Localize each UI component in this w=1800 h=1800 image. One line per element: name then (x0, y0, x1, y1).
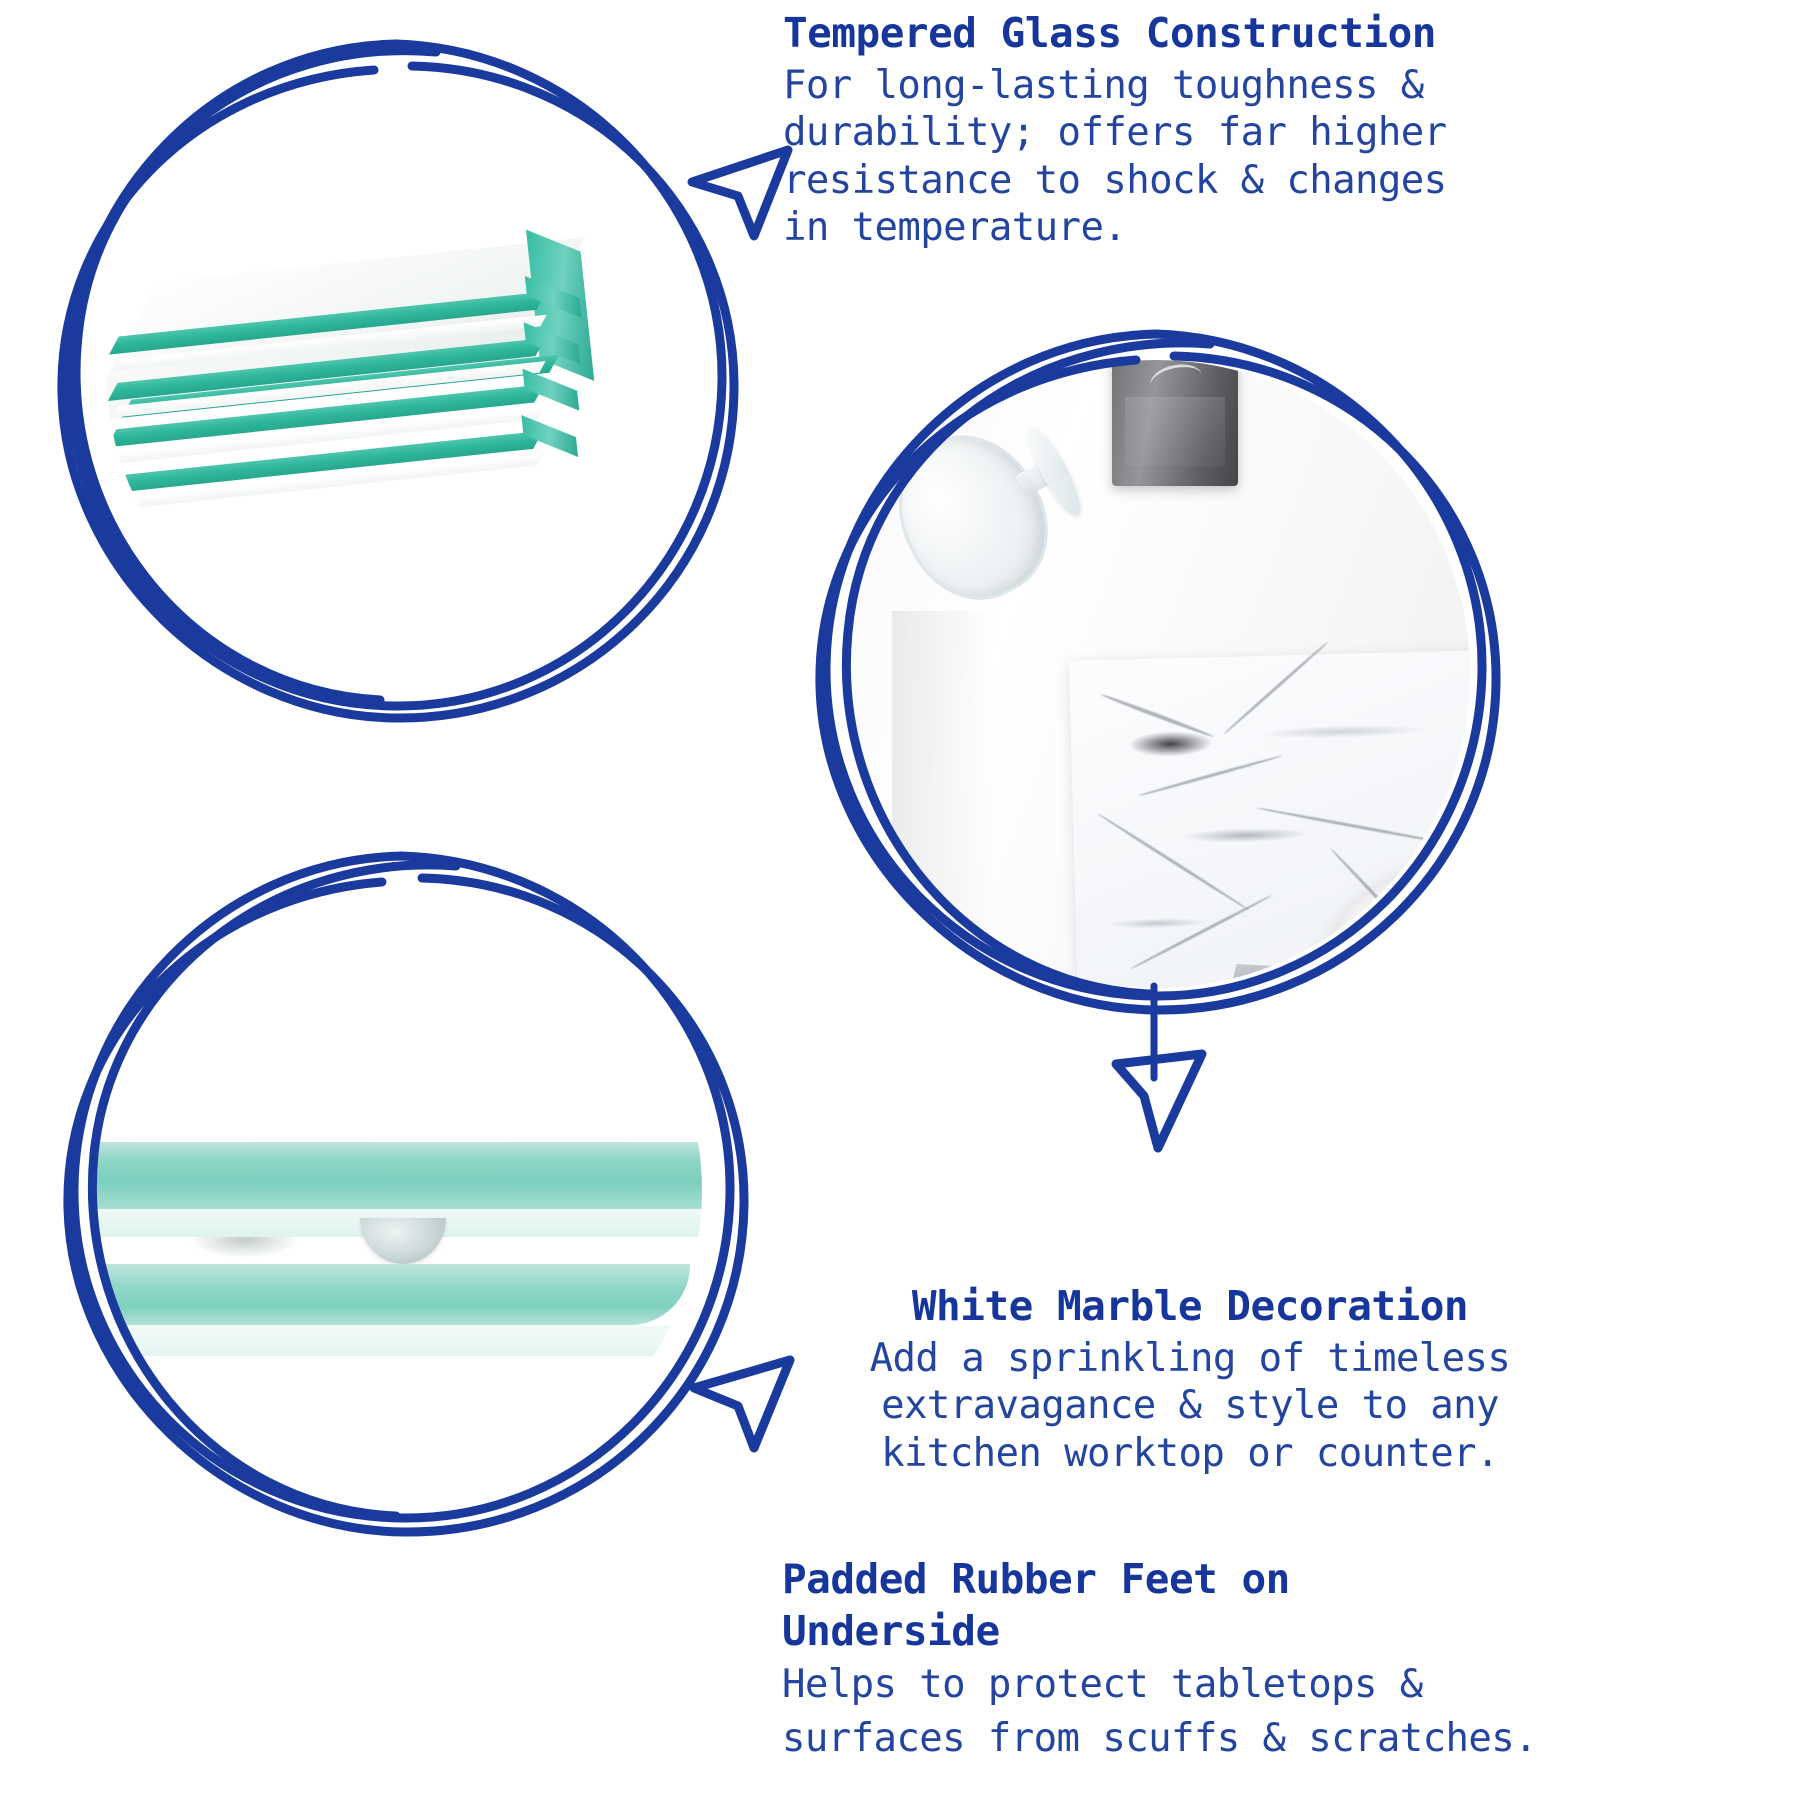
wine-bottle (1112, 360, 1238, 486)
feature-image-tempered-glass (44, 26, 744, 726)
feature-heading-white-marble: White Marble Decoration (820, 1283, 1560, 1331)
feature-heading-padded-rubber-feet-line2: Underside (782, 1608, 1582, 1656)
feature-text-white-marble: White Marble Decoration Add a sprinkling… (820, 1283, 1560, 1477)
feature-body-line: Helps to protect tabletops & (782, 1661, 1582, 1709)
feature-heading-padded-rubber-feet-line1: Padded Rubber Feet on (782, 1556, 1582, 1604)
marble-board-photo (842, 360, 1470, 988)
rubber-foot-photo (92, 886, 702, 1496)
feature-body-line: extravagance & style to any (820, 1382, 1560, 1430)
arrow-down-pointer-icon (1116, 1054, 1202, 1148)
feature-body-line: For long-lasting toughness & (783, 62, 1583, 110)
feature-body-line: durability; offers far higher (783, 109, 1583, 157)
feature-image-white-marble (806, 326, 1506, 1026)
infographic-canvas: Tempered Glass Construction For long-las… (0, 0, 1800, 1800)
feature-body-line: Add a sprinkling of timeless (820, 1335, 1560, 1383)
feature-body-line: resistance to shock & changes (783, 157, 1583, 205)
arrow-pointer-icon (692, 150, 788, 236)
feature-text-padded-rubber-feet: Padded Rubber Feet on Underside Helps to… (782, 1556, 1582, 1762)
feature-image-rubber-feet (62, 846, 762, 1546)
feature-body-line: surfaces from scuffs & scratches. (782, 1715, 1582, 1763)
arrow-pointer-icon (694, 1360, 790, 1448)
feature-body-line: kitchen worktop or counter. (820, 1430, 1560, 1478)
marble-glass-board (1069, 649, 1470, 988)
glass-stack-photo (106, 81, 686, 661)
feature-heading-tempered-glass: Tempered Glass Construction (783, 10, 1583, 58)
feature-body-line: in temperature. (783, 204, 1583, 252)
feature-text-tempered-glass: Tempered Glass Construction For long-las… (783, 10, 1583, 252)
rubber-foot (360, 1218, 445, 1264)
